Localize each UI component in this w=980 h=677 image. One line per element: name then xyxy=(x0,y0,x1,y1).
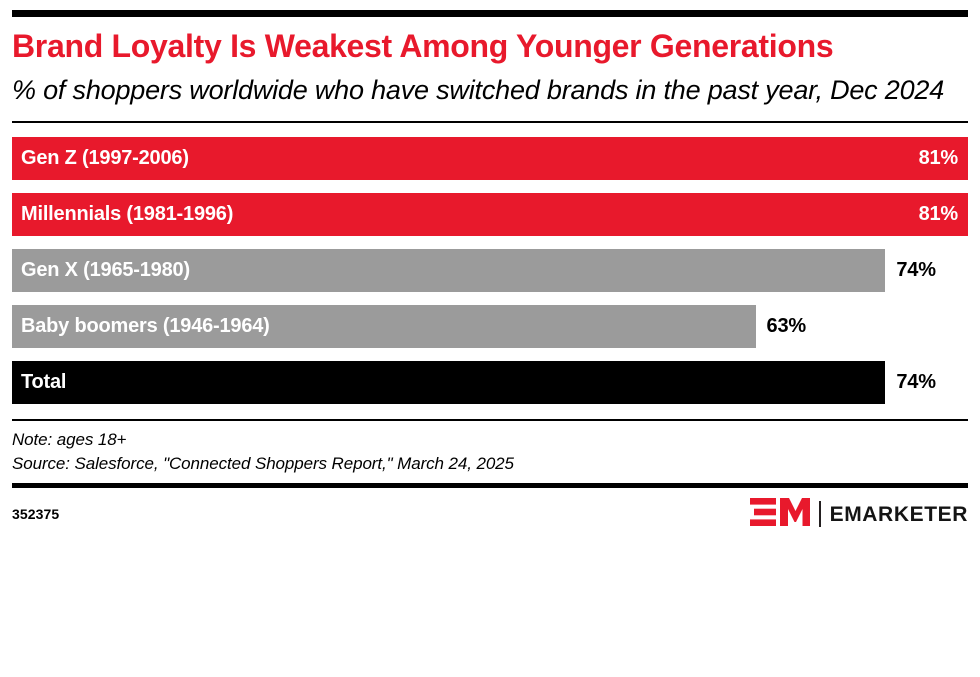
bar-row: Total74% xyxy=(12,361,968,404)
bar-4: Baby boomers (1946-1964) xyxy=(12,305,756,348)
top-rule xyxy=(12,10,968,17)
bar-value-label: 74% xyxy=(896,372,935,392)
bar-value-label: 74% xyxy=(896,260,935,280)
chart-page: Brand Loyalty Is Weakest Among Younger G… xyxy=(0,10,980,677)
bar-3: Gen X (1965-1980) xyxy=(12,249,885,292)
bar-chart: Gen Z (1997-2006)81%Millennials (1981-19… xyxy=(12,137,968,404)
bar-category-label: Millennials (1981-1996) xyxy=(21,204,233,224)
header-divider xyxy=(12,121,968,123)
bar-row: Baby boomers (1946-1964)63% xyxy=(12,305,968,348)
bar-row: Millennials (1981-1996)81% xyxy=(12,193,968,236)
bar-category-label: Baby boomers (1946-1964) xyxy=(21,316,270,336)
note-text: Note: ages 18+ xyxy=(12,428,968,452)
bottom-bar: 352375 EMARKETER xyxy=(12,497,968,532)
bar-value-label: 81% xyxy=(919,204,958,224)
chart-id: 352375 xyxy=(12,506,59,522)
bar-category-label: Total xyxy=(21,372,66,392)
footer-rule xyxy=(12,419,968,421)
header-rule xyxy=(12,121,968,123)
bar-5: Total xyxy=(12,361,885,404)
bar-row: Gen X (1965-1980)74% xyxy=(12,249,968,292)
page-title: Brand Loyalty Is Weakest Among Younger G… xyxy=(12,28,842,66)
emarketer-logo: EMARKETER xyxy=(750,497,968,532)
logo-wordmark: EMARKETER xyxy=(830,504,968,525)
bar-1: Gen Z (1997-2006)81% xyxy=(12,137,968,180)
logo-divider xyxy=(819,501,821,527)
bar-2: Millennials (1981-1996)81% xyxy=(12,193,968,236)
bar-value-label: 63% xyxy=(767,316,806,336)
bottom-rule xyxy=(12,483,968,488)
source-text: Source: Salesforce, "Connected Shoppers … xyxy=(12,452,968,476)
footnotes: Note: ages 18+ Source: Salesforce, "Conn… xyxy=(12,428,968,476)
em-logo-icon xyxy=(750,497,810,532)
bar-value-label: 81% xyxy=(919,148,958,168)
bar-row: Gen Z (1997-2006)81% xyxy=(12,137,968,180)
page-subtitle: % of shoppers worldwide who have switche… xyxy=(12,74,952,107)
bar-category-label: Gen Z (1997-2006) xyxy=(21,148,189,168)
footer-divider xyxy=(12,419,968,421)
bar-category-label: Gen X (1965-1980) xyxy=(21,260,190,280)
